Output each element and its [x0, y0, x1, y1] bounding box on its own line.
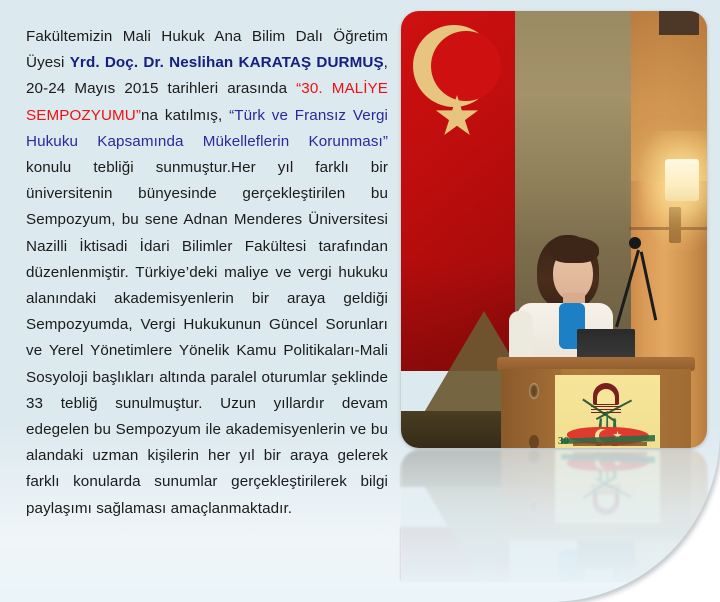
crest-inner — [597, 389, 615, 404]
text-joined: na katılmış, — [141, 107, 229, 124]
laptop-icon — [577, 329, 635, 359]
beige-wall — [513, 11, 631, 251]
speaker-fringe — [549, 237, 599, 263]
page-root: Fakültemizin Mali Hukuk Ana Bilim Dalı Ö… — [0, 0, 720, 602]
photo-reflection — [401, 450, 707, 580]
sconce-bracket — [669, 207, 681, 243]
photo-container: 30 — [401, 11, 707, 448]
wall-sconce-lamp — [665, 159, 699, 201]
crescent-cutout — [431, 31, 501, 101]
banner-subtitle-line — [573, 442, 647, 446]
microphone-icon — [629, 237, 641, 249]
podium-detail-lower — [529, 435, 539, 448]
wood-seam — [629, 227, 707, 230]
article-paragraph: Fakültemizin Mali Hukuk Ana Bilim Dalı Ö… — [26, 24, 388, 522]
podium-detail-upper — [529, 383, 539, 399]
content-panel: Fakültemizin Mali Hukuk Ana Bilim Dalı Ö… — [0, 0, 720, 602]
text-rest: konulu tebliği sunmuştur.Her yıl farklı … — [26, 159, 388, 517]
banner-edition-number: 30 — [558, 435, 574, 448]
ceiling-dark-patch — [659, 11, 699, 35]
article-body: Fakültemizin Mali Hukuk Ana Bilim Dalı Ö… — [26, 24, 388, 522]
text-speaker-name: Yrd. Doç. Dr. Neslihan KARATAŞ DURMUŞ — [70, 54, 384, 71]
event-photo: 30 — [401, 11, 707, 448]
reflection-content — [401, 450, 707, 580]
